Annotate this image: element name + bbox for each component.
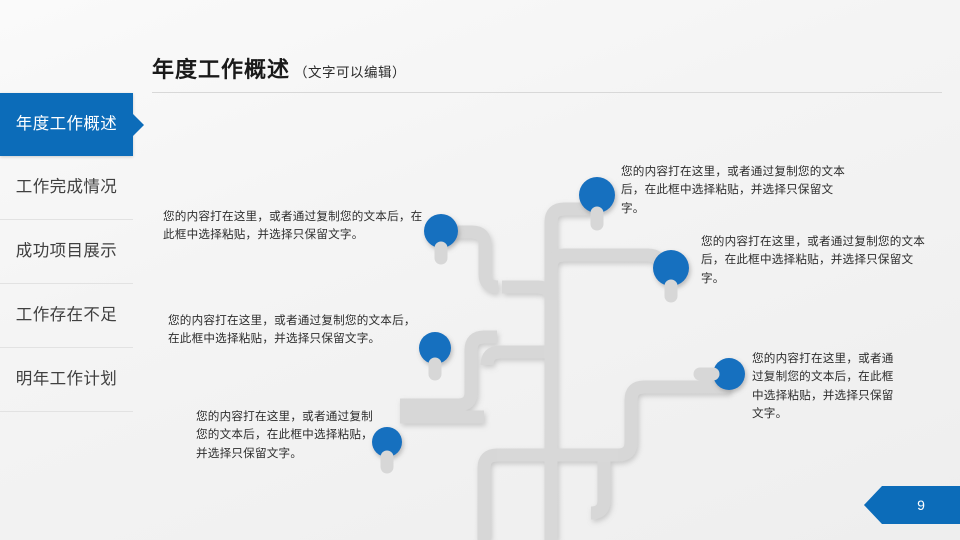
slide-canvas: 年度工作概述 工作完成情况 成功项目展示 工作存在不足 明年工作计划 年度工作概… [0,0,960,540]
sidebar-item-next-year-plan[interactable]: 明年工作计划 [0,348,133,412]
node-text-2: 您的内容打在这里，或者通过复制您的文本后，在此框中选择粘贴，并选择只保留文字。 [621,163,851,218]
node-text-4: 您的内容打在这里，或者通过复制您的文本后，在此框中选择粘贴，并选择只保留文字。 [168,312,426,349]
sidebar-item-successful-projects[interactable]: 成功项目展示 [0,220,133,284]
page-number-badge: 9 [864,486,960,524]
sidebar: 年度工作概述 工作完成情况 成功项目展示 工作存在不足 明年工作计划 [0,93,133,412]
branch-node3 [551,255,661,268]
branch-low-right-down [591,455,604,513]
branch-node4 [487,352,551,365]
branch-trunk-upper [502,287,551,455]
sidebar-item-label: 工作存在不足 [16,307,117,324]
branch-low-left-down [484,455,497,540]
sidebar-item-shortcomings[interactable]: 工作存在不足 [0,284,133,348]
page-title: 年度工作概述 （文字可以编辑） [152,52,942,92]
branch-low-right [618,387,730,455]
title-divider [152,92,942,93]
page-title-main: 年度工作概述 [152,52,290,84]
node-text-3: 您的内容打在这里，或者通过复制您的文本后，在此框中选择粘贴，并选择只保留文字。 [701,233,931,288]
node-text-6: 您的内容打在这里，或者通过复制您的文本后，在此框中选择粘贴，并选择只保留文字。 [752,350,902,423]
sidebar-item-label: 成功项目展示 [16,243,117,260]
node-text-1: 您的内容打在这里，或者通过复制您的文本后，在此框中选择粘贴，并选择只保留文字。 [163,208,425,245]
node-text-5: 您的内容打在这里，或者通过复制您的文本后，在此框中选择粘贴，并选择只保留文字。 [196,408,376,463]
page-title-sub: （文字可以编辑） [294,61,406,81]
sidebar-item-annual-overview[interactable]: 年度工作概述 [0,93,133,156]
header: 年度工作概述 （文字可以编辑） [152,52,942,93]
sidebar-item-work-completion[interactable]: 工作完成情况 [0,156,133,220]
sidebar-item-label: 明年工作计划 [16,371,117,388]
sidebar-item-label: 年度工作概述 [16,116,117,133]
page-number-label: 9 [917,497,925,513]
sidebar-item-label: 工作完成情况 [16,179,117,196]
